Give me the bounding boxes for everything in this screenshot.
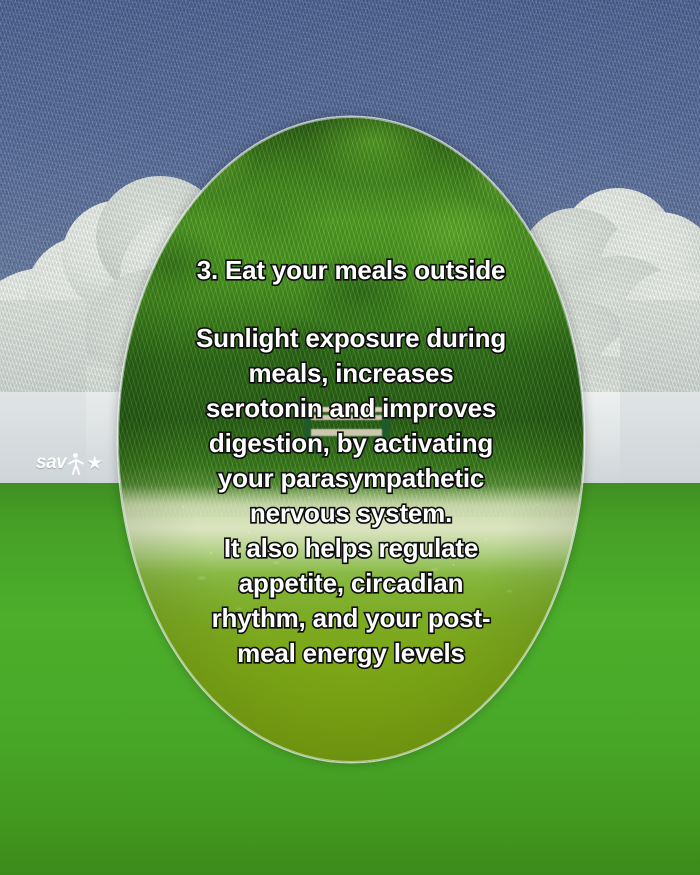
- tip-card-image: 3. Eat your meals outside Sunlight expos…: [0, 0, 700, 875]
- body-line-9: meal energy levels: [237, 636, 465, 671]
- headline: 3. Eat your meals outside: [197, 253, 506, 287]
- body-line-7: appetite, circadian: [239, 566, 464, 601]
- body-line-5: nervous system.: [250, 496, 452, 531]
- body-line-4: your parasympathetic: [218, 461, 484, 496]
- caption-text-block: 3. Eat your meals outside Sunlight expos…: [118, 117, 584, 762]
- body-line-2: serotonin and improves: [206, 391, 496, 426]
- body-line-3: digestion, by activating: [209, 426, 493, 461]
- body-line-6: It also helps regulate: [224, 531, 478, 566]
- body-line-1: meals, increases: [249, 356, 454, 391]
- body-line-0: Sunlight exposure during: [196, 321, 506, 356]
- body-line-8: rhythm, and your post-: [212, 601, 491, 636]
